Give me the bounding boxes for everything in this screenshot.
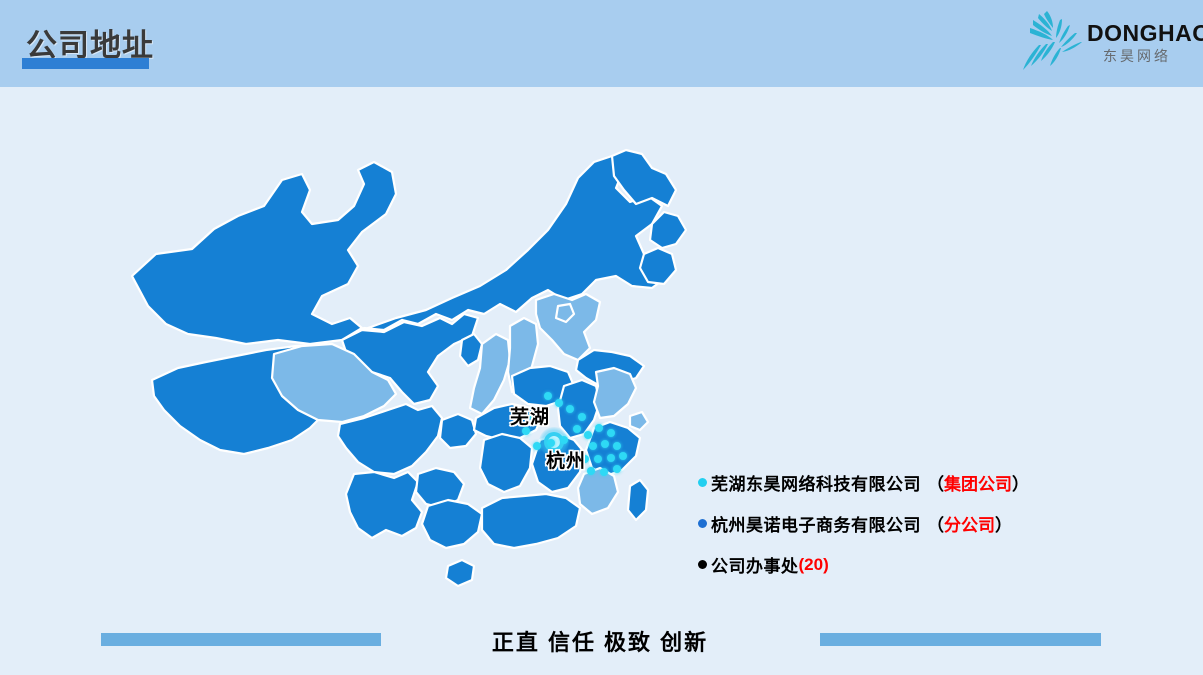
legend-bullet-black bbox=[698, 560, 707, 569]
legend-tag-1: （分公司） bbox=[927, 511, 1012, 536]
footer-slogan: 正直 信任 极致 创新 bbox=[440, 625, 760, 657]
china-map: 芜湖 杭州 bbox=[96, 128, 696, 608]
province-jiangsu bbox=[594, 368, 636, 418]
province-shanghai bbox=[630, 412, 648, 430]
legend-tag-close-2: ) bbox=[823, 555, 829, 574]
company-logo: DONGHAO 东昊网络 bbox=[1013, 6, 1189, 78]
office-dot[interactable] bbox=[595, 424, 603, 432]
feather-fan-icon bbox=[1017, 8, 1089, 76]
legend-tag-open-0: （ bbox=[927, 475, 944, 494]
legend-item-group-company[interactable]: 芜湖东昊网络科技有限公司 （集团公司） bbox=[698, 462, 1168, 503]
footer-bar-left bbox=[101, 633, 381, 646]
legend-label-0: 芜湖东昊网络科技有限公司 bbox=[711, 470, 921, 495]
office-dot[interactable] bbox=[613, 465, 621, 473]
province-yunnan bbox=[346, 472, 422, 538]
china-map-svg bbox=[96, 128, 696, 608]
province-guangdong bbox=[482, 494, 580, 548]
office-dot[interactable] bbox=[544, 392, 552, 400]
legend-tag-close-1: ） bbox=[995, 516, 1012, 535]
office-dot[interactable] bbox=[566, 405, 574, 413]
province-chongqing bbox=[440, 414, 476, 448]
logo-wordmark: DONGHAO bbox=[1087, 20, 1187, 46]
office-dot[interactable] bbox=[587, 467, 595, 475]
legend-tag-0: （集团公司） bbox=[927, 470, 1029, 495]
office-dot[interactable] bbox=[613, 442, 621, 450]
legend-tag-2: (20) bbox=[799, 555, 829, 575]
legend-tag-highlight-1: 分公司 bbox=[944, 516, 995, 535]
office-dot[interactable] bbox=[589, 442, 597, 450]
title-underline bbox=[22, 58, 149, 69]
province-hunan bbox=[480, 434, 532, 492]
province-taiwan bbox=[628, 480, 648, 520]
province-fujian bbox=[578, 468, 618, 514]
legend-item-branch-company[interactable]: 杭州昊诺电子商务有限公司 （分公司） bbox=[698, 503, 1168, 544]
office-dot[interactable] bbox=[601, 440, 609, 448]
province-ningxia bbox=[460, 334, 482, 366]
legend-tag-highlight-2: 20 bbox=[804, 555, 823, 574]
slide-company-address: 公司地址 DONGHAO 东昊网络 bbox=[0, 0, 1203, 675]
office-dot[interactable] bbox=[578, 413, 586, 421]
legend-label-1: 杭州昊诺电子商务有限公司 bbox=[711, 511, 921, 536]
province-liaoning bbox=[640, 248, 676, 284]
office-dot[interactable] bbox=[555, 399, 563, 407]
office-dot[interactable] bbox=[584, 431, 592, 439]
office-dot[interactable] bbox=[594, 455, 602, 463]
logo-sub-wordmark: 东昊网络 bbox=[1087, 46, 1187, 66]
legend-label-2: 公司办事处 bbox=[711, 552, 799, 577]
office-dot[interactable] bbox=[573, 425, 581, 433]
footer-bar-right bbox=[820, 633, 1101, 646]
legend-item-offices[interactable]: 公司办事处 (20) bbox=[698, 544, 1168, 585]
province-hainan bbox=[446, 560, 474, 586]
legend-bullet-cyan bbox=[698, 478, 707, 487]
province-xinjiang bbox=[132, 162, 396, 344]
province-guangxi bbox=[422, 500, 482, 548]
legend-bullet-blue bbox=[698, 519, 707, 528]
office-dot[interactable] bbox=[533, 442, 541, 450]
legend-tag-open-1: （ bbox=[927, 516, 944, 535]
map-label-hangzhou: 杭州 bbox=[546, 446, 586, 473]
office-dot[interactable] bbox=[607, 429, 615, 437]
office-dot[interactable] bbox=[607, 454, 615, 462]
legend: 芜湖东昊网络科技有限公司 （集团公司） 杭州昊诺电子商务有限公司 （分公司） 公… bbox=[698, 462, 1168, 585]
map-label-wuhu: 芜湖 bbox=[510, 402, 550, 429]
legend-tag-highlight-0: 集团公司 bbox=[944, 475, 1012, 494]
office-dot[interactable] bbox=[600, 468, 608, 476]
office-dot[interactable] bbox=[560, 436, 568, 444]
legend-tag-close-0: ） bbox=[1012, 475, 1029, 494]
office-dot[interactable] bbox=[619, 452, 627, 460]
logo-text-block: DONGHAO 东昊网络 bbox=[1087, 20, 1187, 66]
